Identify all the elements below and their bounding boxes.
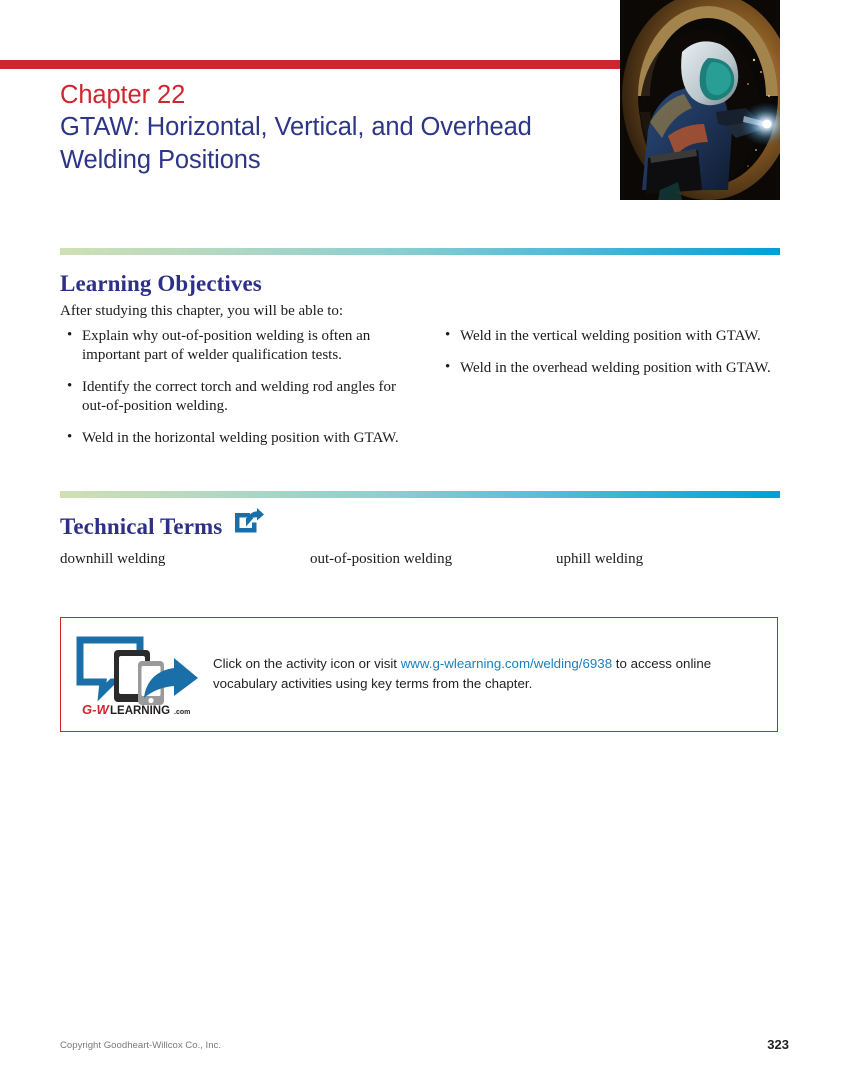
online-activity-box: G-W LEARNING .com Click on the activity … — [60, 617, 778, 732]
technical-term: downhill welding — [60, 550, 310, 569]
technical-terms-heading-row: Technical Terms — [60, 514, 264, 540]
svg-text:LEARNING: LEARNING — [110, 705, 170, 716]
technical-term: out-of-position welding — [310, 550, 556, 569]
activity-instruction-text: Click on the activity icon or visit www.… — [213, 654, 758, 693]
technical-term: uphill welding — [556, 550, 780, 569]
list-item: Explain why out-of-position welding is o… — [60, 327, 422, 365]
learning-objectives-left-column: Explain why out-of-position welding is o… — [60, 327, 420, 461]
chapter-number: Chapter 22 — [60, 80, 605, 111]
learning-objectives-intro: After studying this chapter, you will be… — [60, 303, 343, 320]
learning-objectives-left-list: Explain why out-of-position welding is o… — [60, 327, 420, 448]
activity-url-link[interactable]: www.g-wlearning.com/welding/6938 — [401, 656, 612, 671]
footer-copyright: Copyright Goodheart-Willcox Co., Inc. — [60, 1040, 221, 1051]
learning-objectives-heading: Learning Objectives — [60, 271, 262, 297]
share-external-link-icon[interactable] — [233, 508, 264, 538]
page-number: 323 — [767, 1037, 789, 1052]
technical-terms-gradient-rule — [60, 491, 780, 498]
learning-objectives-columns: Explain why out-of-position welding is o… — [60, 327, 780, 461]
learning-objectives-right-column: Weld in the vertical welding position wi… — [420, 327, 780, 461]
chapter-heading: Chapter 22 GTAW: Horizontal, Vertical, a… — [60, 80, 605, 177]
list-item: Weld in the overhead welding position wi… — [438, 359, 790, 378]
activity-text-before: Click on the activity icon or visit — [213, 656, 401, 671]
chapter-photo — [620, 0, 780, 200]
header-red-rule — [0, 60, 620, 69]
technical-terms-list: downhill welding out-of-position welding… — [60, 550, 780, 569]
list-item: Identify the correct torch and welding r… — [60, 378, 422, 416]
chapter-title: GTAW: Horizontal, Vertical, and Overhead… — [60, 111, 605, 177]
svg-text:.com: .com — [174, 709, 190, 716]
list-item: Weld in the vertical welding position wi… — [438, 327, 790, 346]
svg-text:G-W: G-W — [82, 702, 110, 716]
g-w-learning-logo[interactable]: G-W LEARNING .com — [76, 636, 206, 716]
technical-terms-heading: Technical Terms — [60, 514, 222, 540]
list-item: Weld in the horizontal welding position … — [60, 429, 422, 448]
learning-objectives-gradient-rule — [60, 248, 780, 255]
learning-objectives-right-list: Weld in the vertical welding position wi… — [438, 327, 780, 378]
